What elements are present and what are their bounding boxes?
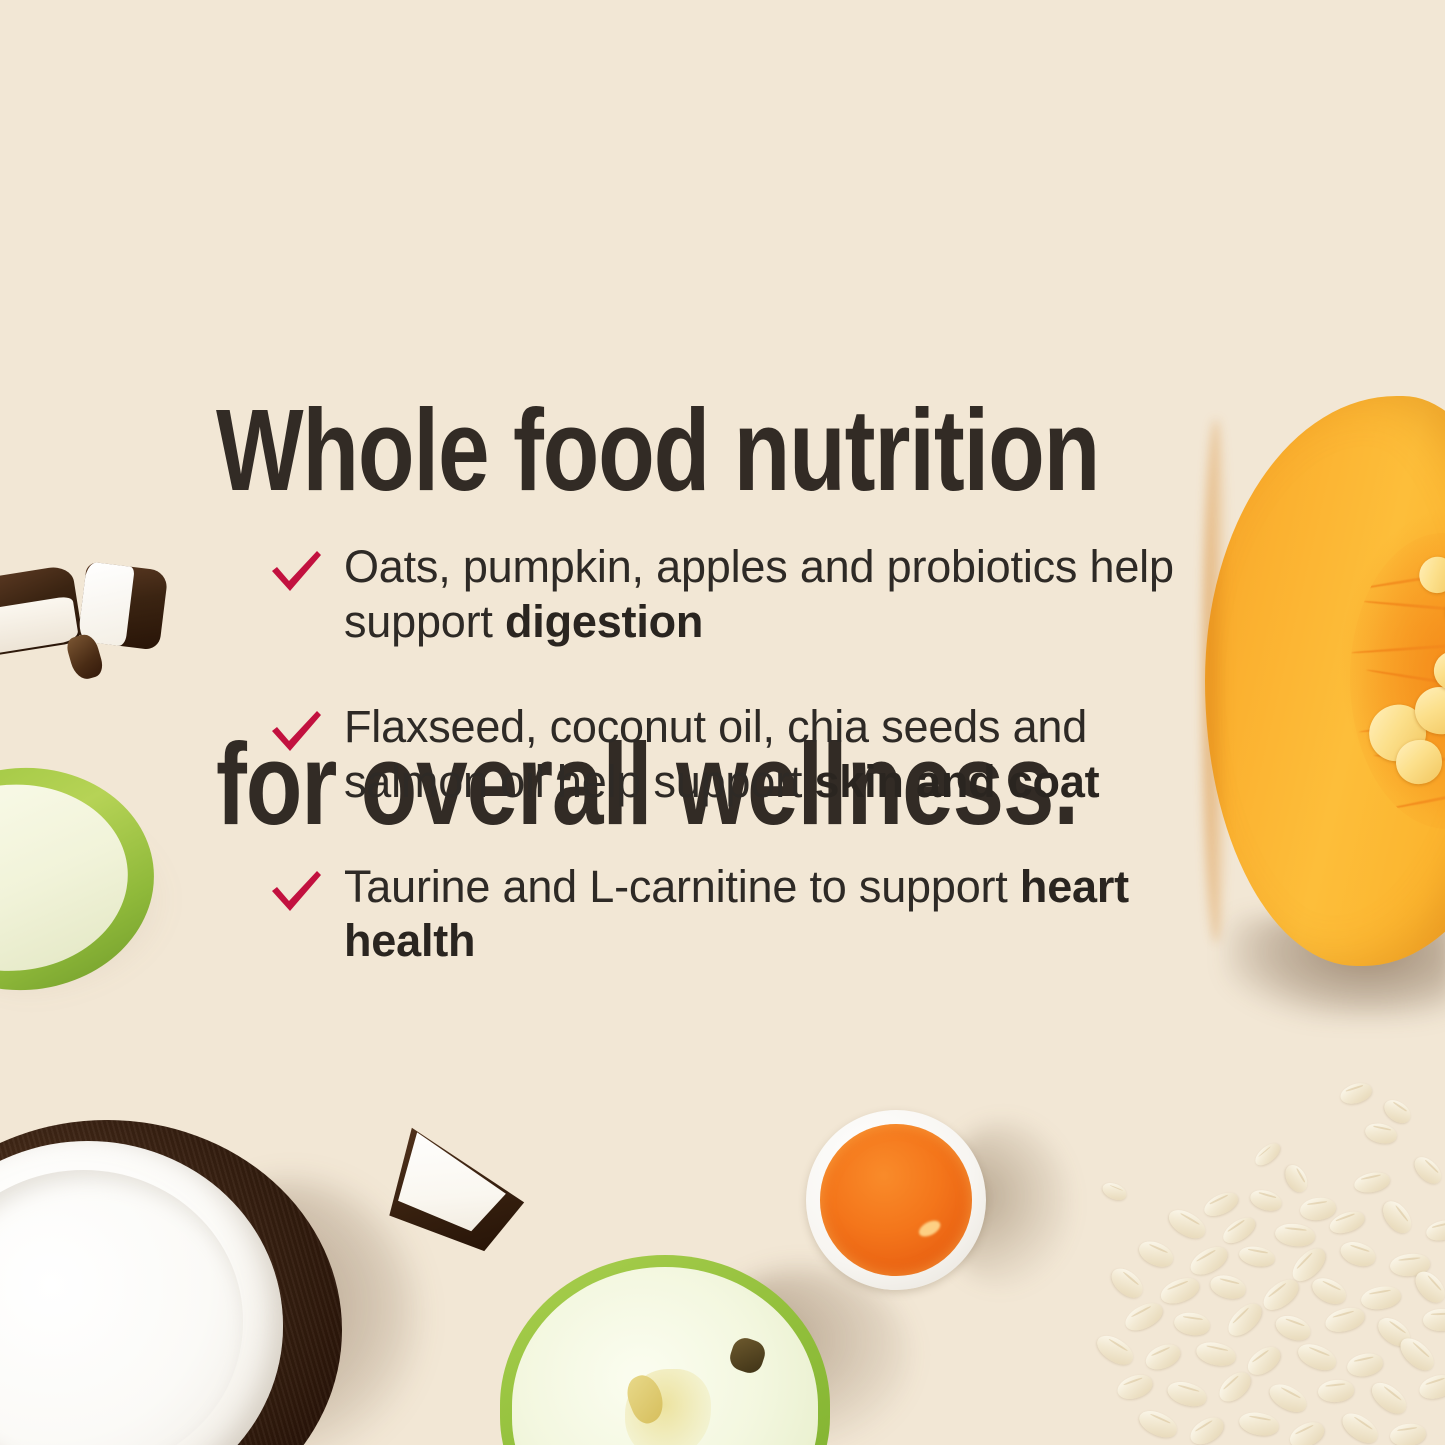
marketing-graphic-canvas: Whole food nutrition for overall wellnes… xyxy=(0,0,1445,1445)
coconut-half-image xyxy=(0,1120,342,1445)
salmon-oil-bowl-image xyxy=(806,1110,986,1290)
check-icon xyxy=(268,548,324,596)
benefit-item: Oats, pumpkin, apples and probiotics hel… xyxy=(268,540,1198,650)
benefit-text-emphasis: digestion xyxy=(505,596,703,647)
check-icon xyxy=(268,708,324,756)
coconut-wedge-image xyxy=(378,1121,536,1257)
benefit-text: Flaxseed, coconut oil, chia seeds and sa… xyxy=(344,700,1198,810)
benefit-text-normal: Oats, pumpkin, apples and probiotics hel… xyxy=(344,541,1174,647)
pumpkin-rind xyxy=(1203,419,1229,943)
rolled-oats-image xyxy=(1095,1080,1445,1445)
benefit-item: Taurine and L-carnitine to support heart… xyxy=(268,860,1198,970)
benefit-text-normal: Taurine and L-carnitine to support xyxy=(344,861,1020,912)
benefit-text-emphasis: skin and coat xyxy=(814,756,1099,807)
benefit-text: Taurine and L-carnitine to support heart… xyxy=(344,860,1198,970)
pumpkin-half-image xyxy=(1205,396,1445,966)
benefit-text: Oats, pumpkin, apples and probiotics hel… xyxy=(344,540,1198,650)
benefits-list: Oats, pumpkin, apples and probiotics hel… xyxy=(268,540,1198,969)
headline-line-1: Whole food nutrition xyxy=(216,395,1064,506)
oil-bowl-liquid xyxy=(820,1124,971,1275)
benefit-item: Flaxseed, coconut oil, chia seeds and sa… xyxy=(268,700,1198,810)
green-apple-half-image xyxy=(500,1255,830,1445)
check-icon xyxy=(268,868,324,916)
green-apple-slice-image xyxy=(0,759,161,999)
